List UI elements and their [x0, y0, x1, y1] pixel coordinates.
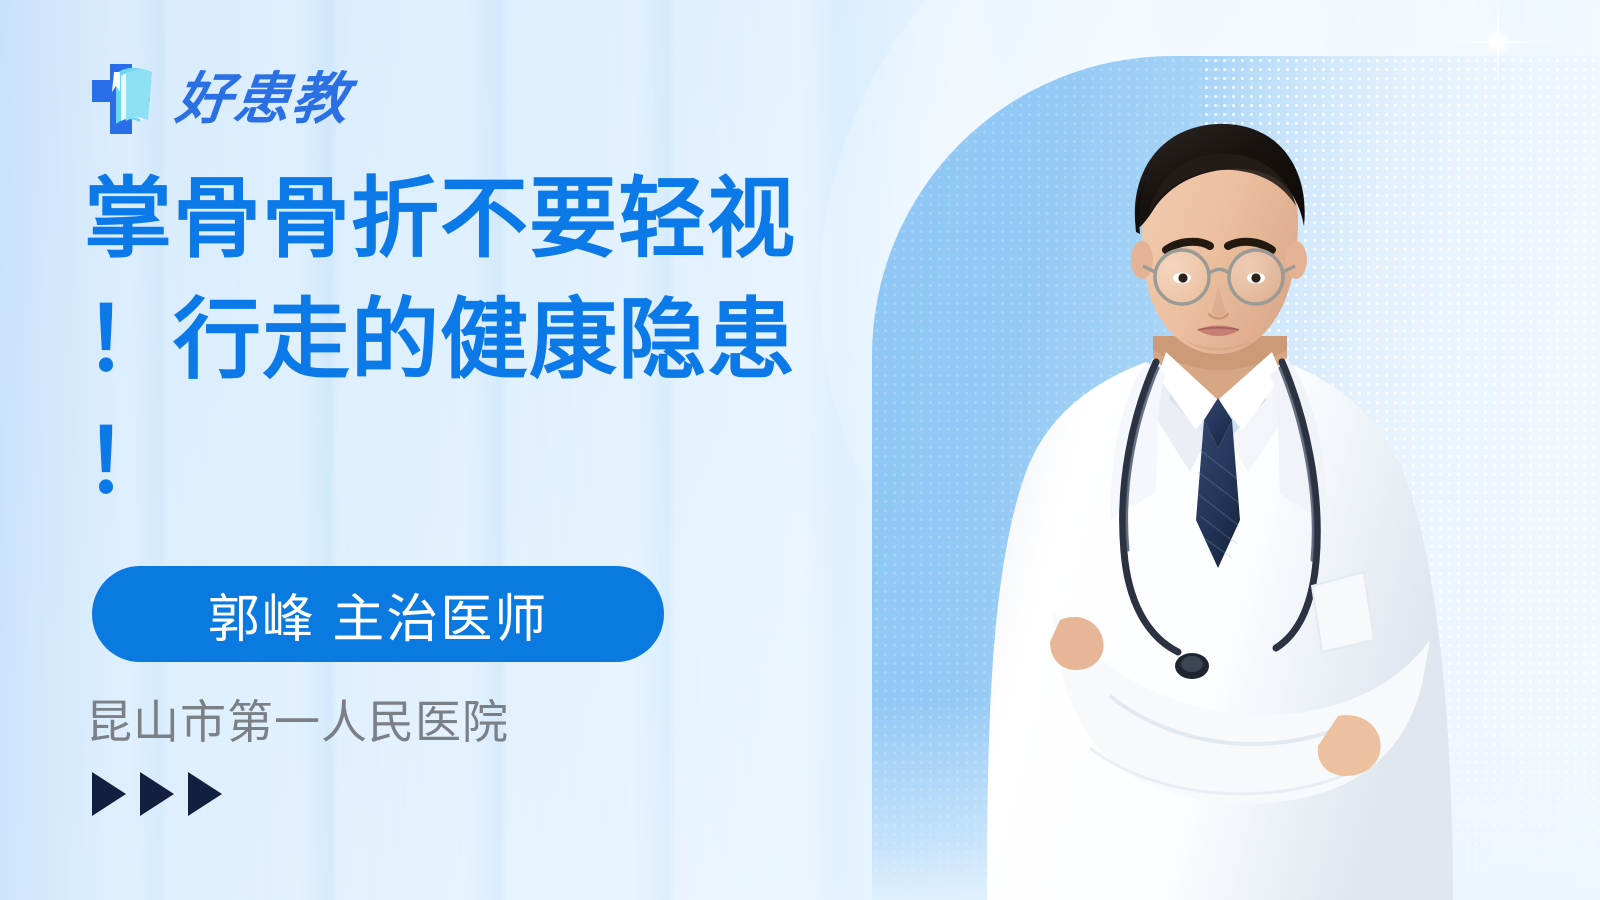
headline: 掌骨骨折不要轻视 ！行走的健康隐患 ！	[84, 158, 884, 522]
play-arrows	[92, 772, 222, 816]
brand-logo[interactable]: 好患教	[88, 56, 350, 142]
video-cover: 好患教 掌骨骨折不要轻视 ！行走的健康隐患 ！ 郭峰 主治医师 昆山市第一人民医…	[0, 0, 1600, 900]
brand-name: 好患教	[173, 71, 353, 127]
presenter-name-title: 郭峰 主治医师	[208, 577, 548, 652]
headline-line-2: ！行走的健康隐患	[84, 279, 884, 400]
headline-line-3: ！	[84, 401, 884, 522]
headline-line-1: 掌骨骨折不要轻视	[84, 158, 884, 279]
play-arrow-icon-3	[188, 772, 222, 816]
presenter-badge: 郭峰 主治医师	[92, 566, 664, 662]
play-arrow-icon-2	[140, 772, 174, 816]
hospital-name: 昆山市第一人民医院	[86, 686, 509, 752]
medical-cross-book-icon	[88, 56, 162, 142]
doctor-portrait	[960, 100, 1480, 900]
play-arrow-icon-1	[92, 772, 126, 816]
